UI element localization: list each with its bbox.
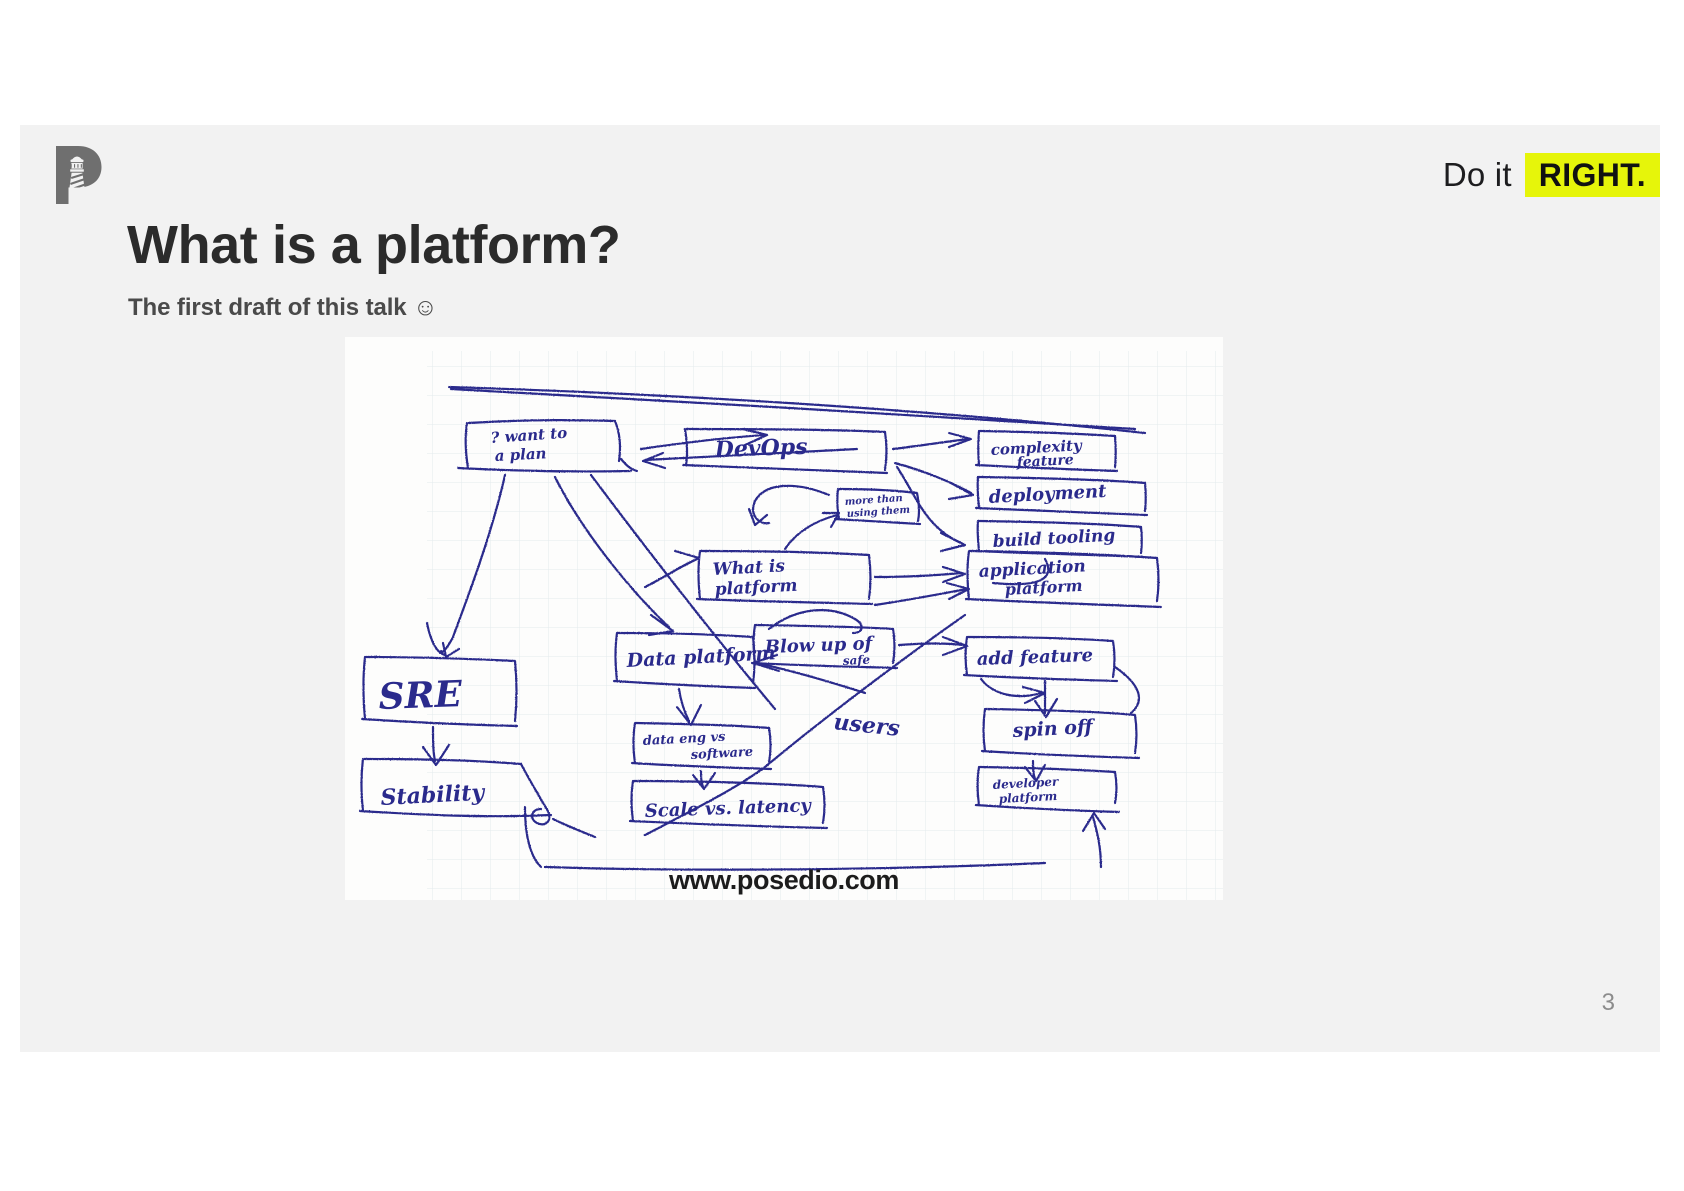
handdrawn-diagram-image: ? want to a plan DevOps complexity featu…	[345, 337, 1223, 900]
screenshot-stage: Do it RIGHT. What is a platform? The fir…	[0, 0, 1684, 1191]
tagline-emphasis-badge: RIGHT.	[1525, 153, 1660, 197]
svg-text:feature: feature	[1015, 452, 1074, 471]
page-title: What is a platform?	[127, 217, 620, 274]
svg-text:DevOps: DevOps	[713, 434, 808, 463]
tagline: Do it RIGHT.	[1443, 153, 1660, 197]
tagline-prefix: Do it	[1443, 153, 1525, 197]
presentation-slide: Do it RIGHT. What is a platform? The fir…	[20, 125, 1660, 1052]
page-subtitle: The first draft of this talk ☺	[128, 294, 438, 322]
svg-text:spin off: spin off	[1011, 716, 1096, 742]
posedio-lighthouse-p-logo	[48, 144, 104, 206]
svg-text:add feature: add feature	[976, 645, 1093, 670]
svg-text:safe: safe	[842, 653, 870, 668]
svg-text:SRE: SRE	[378, 673, 463, 718]
page-number: 3	[1602, 989, 1615, 1017]
svg-text:a plan: a plan	[494, 444, 547, 465]
svg-text:Stability: Stability	[380, 779, 487, 811]
